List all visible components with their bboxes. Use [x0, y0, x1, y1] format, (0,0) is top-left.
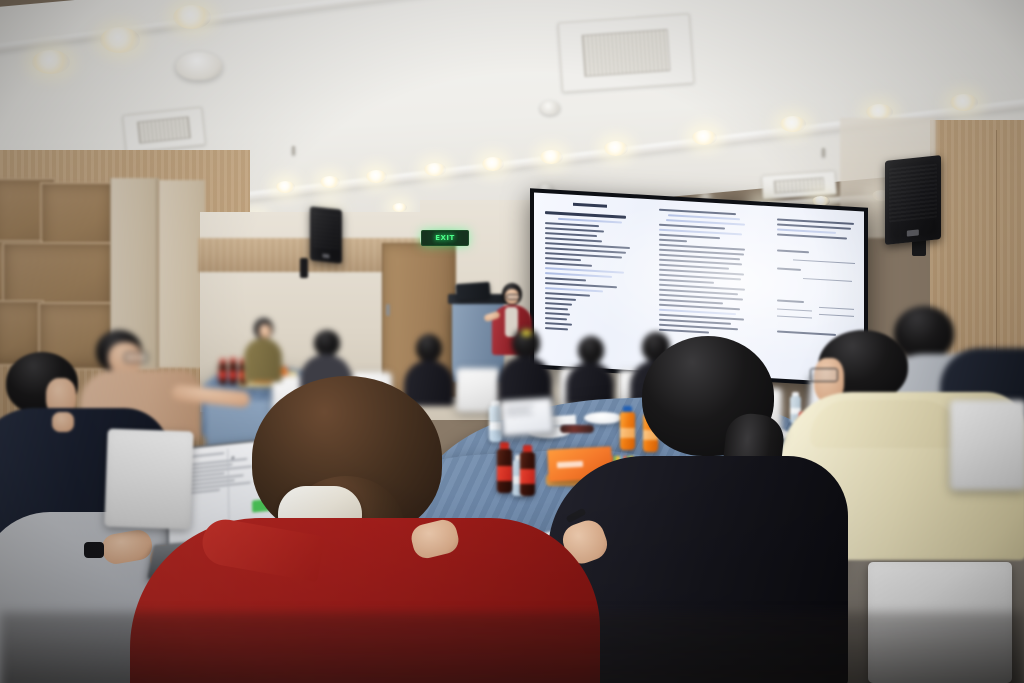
speaker-left	[310, 206, 342, 263]
signature-line	[777, 315, 812, 318]
door-handle[interactable]	[386, 304, 390, 316]
document-line	[545, 312, 570, 315]
downlight	[482, 157, 504, 171]
hvac-diffuser-top-right	[558, 13, 695, 92]
attendee-hair	[416, 334, 442, 362]
downlight	[692, 130, 717, 145]
hvac-diffuser-lower-right	[761, 170, 836, 199]
document-line	[545, 277, 586, 281]
exit-sign: EXIT	[421, 230, 469, 246]
chair[interactable]	[950, 400, 1024, 490]
speaker-logo	[322, 254, 329, 259]
sprinkler-head-1	[822, 148, 825, 157]
conference-room-photo: EXIT	[0, 0, 1024, 683]
signature-line	[819, 314, 854, 317]
attendee-face	[259, 324, 271, 338]
document-line	[545, 317, 567, 320]
downlight	[173, 5, 211, 29]
downlight	[780, 116, 806, 132]
speaker-grille	[889, 164, 936, 223]
document-line	[545, 297, 576, 301]
chair[interactable]	[104, 429, 193, 530]
lectern-monitor	[455, 282, 490, 300]
attendee-hand	[52, 412, 74, 432]
downlight	[366, 170, 387, 183]
sprinkler-head-2	[292, 146, 295, 155]
document-line	[545, 232, 597, 237]
smoke-detector-1	[540, 101, 560, 115]
document-line	[659, 239, 687, 243]
downlight	[392, 203, 407, 212]
attendee-hair	[314, 330, 340, 356]
document-line	[545, 322, 572, 326]
document-line	[545, 302, 572, 306]
hair-clip	[522, 330, 531, 336]
downlight	[320, 176, 340, 188]
document-line	[777, 267, 801, 270]
downlight	[32, 50, 70, 74]
document-line	[545, 292, 590, 297]
document-line	[545, 262, 592, 267]
downlight	[604, 141, 628, 156]
document-line	[777, 249, 809, 253]
wristwatch	[84, 542, 104, 558]
speaker-logo	[907, 230, 919, 237]
document-line	[659, 279, 714, 284]
signature-line	[777, 308, 812, 311]
document-title-bar	[573, 203, 607, 208]
signature-line	[793, 259, 855, 264]
document-line	[545, 222, 599, 227]
downlight	[540, 150, 563, 164]
foreground-shadow	[0, 612, 1024, 683]
downlight	[950, 94, 978, 111]
speaker-grille	[313, 212, 340, 249]
document-line	[777, 299, 804, 303]
speaker-right	[885, 155, 941, 245]
downlight	[276, 181, 295, 193]
document-line	[545, 237, 602, 242]
downlight	[100, 27, 140, 53]
ceiling-dome-lamp	[176, 52, 222, 80]
document-line	[545, 257, 581, 261]
signature-line	[803, 278, 853, 282]
downlight	[424, 163, 446, 176]
presenter-glasses	[506, 294, 520, 300]
document-line	[545, 307, 568, 310]
speaker-bracket-left	[300, 258, 308, 278]
exit-sign-label: EXIT	[435, 234, 455, 242]
attendee-olive-top	[244, 318, 282, 380]
document-line	[777, 233, 847, 239]
signature-line	[819, 307, 854, 310]
